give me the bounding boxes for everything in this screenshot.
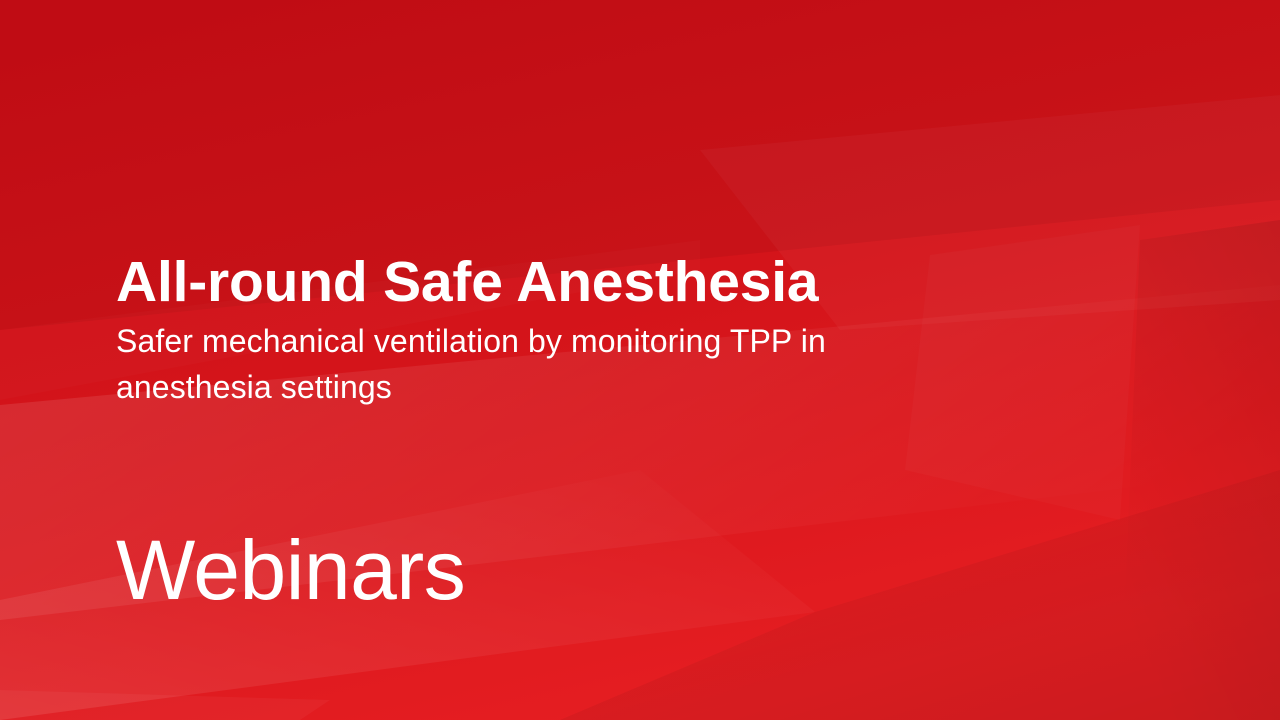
slide-text-layer: All-round Safe Anesthesia Safer mechanic… bbox=[0, 0, 1280, 720]
subtitle-line-2: anesthesia settings bbox=[116, 364, 1016, 410]
subtitle-line-1: Safer mechanical ventilation by monitori… bbox=[116, 318, 1016, 364]
webinar-title-slide: All-round Safe Anesthesia Safer mechanic… bbox=[0, 0, 1280, 720]
slide-subtitle: Safer mechanical ventilation by monitori… bbox=[116, 318, 1016, 410]
page-title: All-round Safe Anesthesia bbox=[116, 252, 1116, 312]
webinars-wordmark: Webinars bbox=[116, 528, 465, 612]
